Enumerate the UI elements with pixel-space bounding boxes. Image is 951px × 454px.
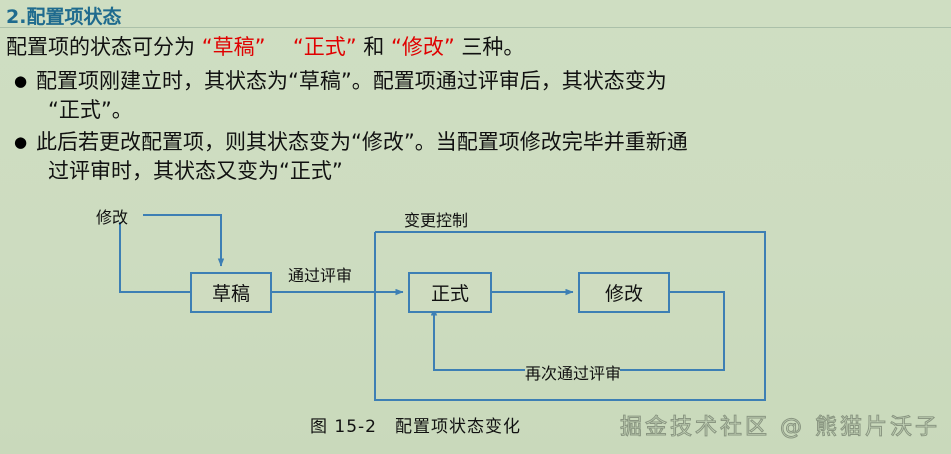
edge-label-pass-review: 通过评审 (288, 262, 352, 286)
slide-canvas: 2.配置项状态 配置项的状态可分为 “草稿” “正式” 和 “修改” 三种。 ●… (0, 0, 951, 454)
lead-text-mid: 和 (363, 35, 384, 59)
edge-label-change-control: 变更控制 (404, 207, 468, 231)
node-official: 正式 (408, 272, 492, 313)
state-modified-inline: “修改” (391, 35, 455, 59)
bullet-2-line-2: 过评审时，其状态又变为“正式” (48, 155, 343, 185)
edge-label-modify: 修改 (96, 204, 128, 228)
edge-label-repass-review: 再次通过评审 (525, 360, 621, 384)
figure-caption: 图 15-2 配置项状态变化 (310, 412, 521, 437)
lead-paragraph: 配置项的状态可分为 “草稿” “正式” 和 “修改” 三种。 (6, 31, 524, 61)
node-draft-label: 草稿 (212, 279, 250, 306)
state-official-inline: “正式” (293, 35, 357, 59)
node-draft: 草稿 (190, 272, 272, 313)
watermark: 掘金技术社区 @ 熊猫片沃子 (620, 409, 940, 441)
bullet-marker-2: ● (14, 135, 27, 150)
title-underline-divider (0, 27, 951, 28)
state-draft-inline: “草稿” (202, 35, 266, 59)
bullet-2-line-1: 此后若更改配置项，则其状态变为“修改”。当配置项修改完毕并重新通 (36, 126, 688, 156)
state-transition-diagram: 草稿 正式 修改 修改 通过评审 变更控制 再次通过评审 (0, 190, 951, 415)
lead-text-part1: 配置项的状态可分为 (6, 35, 195, 59)
node-modified-label: 修改 (605, 279, 643, 306)
bullet-1-line-2: “正式”。 (48, 94, 133, 124)
page-title: 2.配置项状态 (6, 2, 121, 29)
bullet-1-line-1: 配置项刚建立时，其状态为“草稿”。配置项通过评审后，其状态变为 (36, 65, 667, 95)
bullet-marker-1: ● (14, 74, 27, 89)
node-official-label: 正式 (431, 279, 469, 306)
lead-text-part2: 三种。 (461, 35, 524, 59)
node-modified: 修改 (578, 272, 670, 313)
